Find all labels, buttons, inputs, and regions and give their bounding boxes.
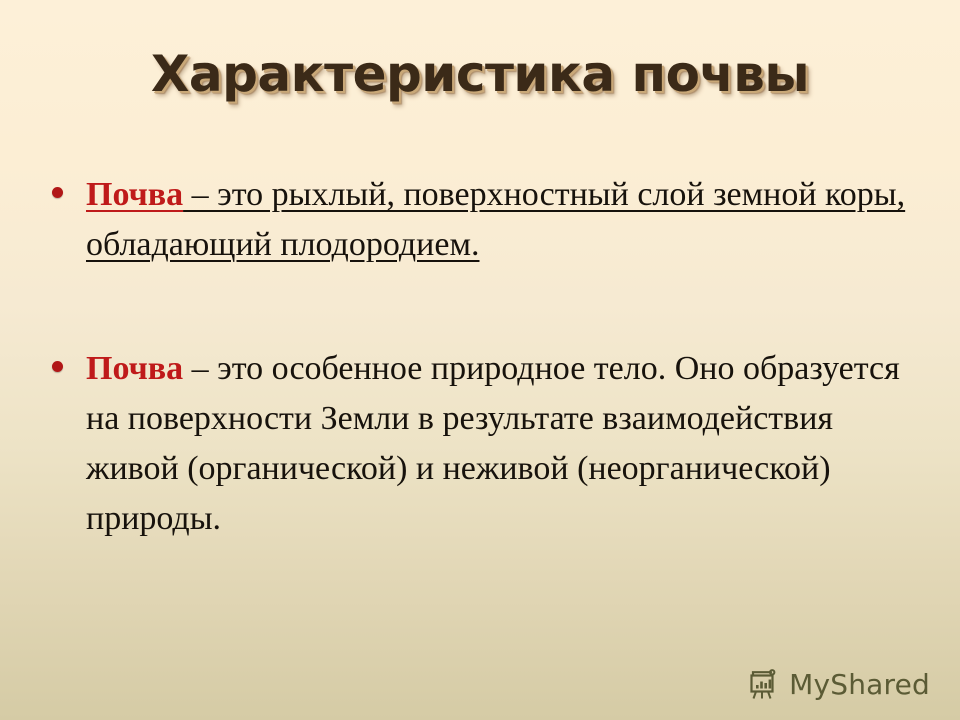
bullet-text: Почва – это особенное природное тело. Он… [86, 344, 932, 544]
page-title: Характеристика почвы [151, 48, 809, 101]
bullet-item: Почва – это рыхлый, поверхностный слой з… [52, 170, 932, 270]
flipchart-bar-chart-icon [747, 668, 781, 702]
myshared-watermark: MyShared [747, 668, 930, 702]
bullet-item: Почва – это особенное природное тело. Он… [52, 344, 932, 544]
bullet-definition: – это особенное природное тело. Оно обра… [86, 350, 900, 537]
title-block: Характеристика почвы [0, 48, 960, 101]
slide-body: Почва – это рыхлый, поверхностный слой з… [52, 170, 932, 544]
bullet-text: Почва – это рыхлый, поверхностный слой з… [86, 170, 932, 270]
bullet-dot-icon [52, 344, 86, 372]
slide-canvas: Характеристика почвы Почва – это рыхлый,… [0, 0, 960, 720]
bullet-term: Почва [86, 176, 183, 213]
myshared-label: MyShared [789, 671, 930, 699]
bullet-dot-icon [52, 170, 86, 198]
bullet-definition: – это рыхлый, поверхностный слой земной … [86, 176, 905, 263]
bullet-term: Почва [86, 350, 183, 387]
